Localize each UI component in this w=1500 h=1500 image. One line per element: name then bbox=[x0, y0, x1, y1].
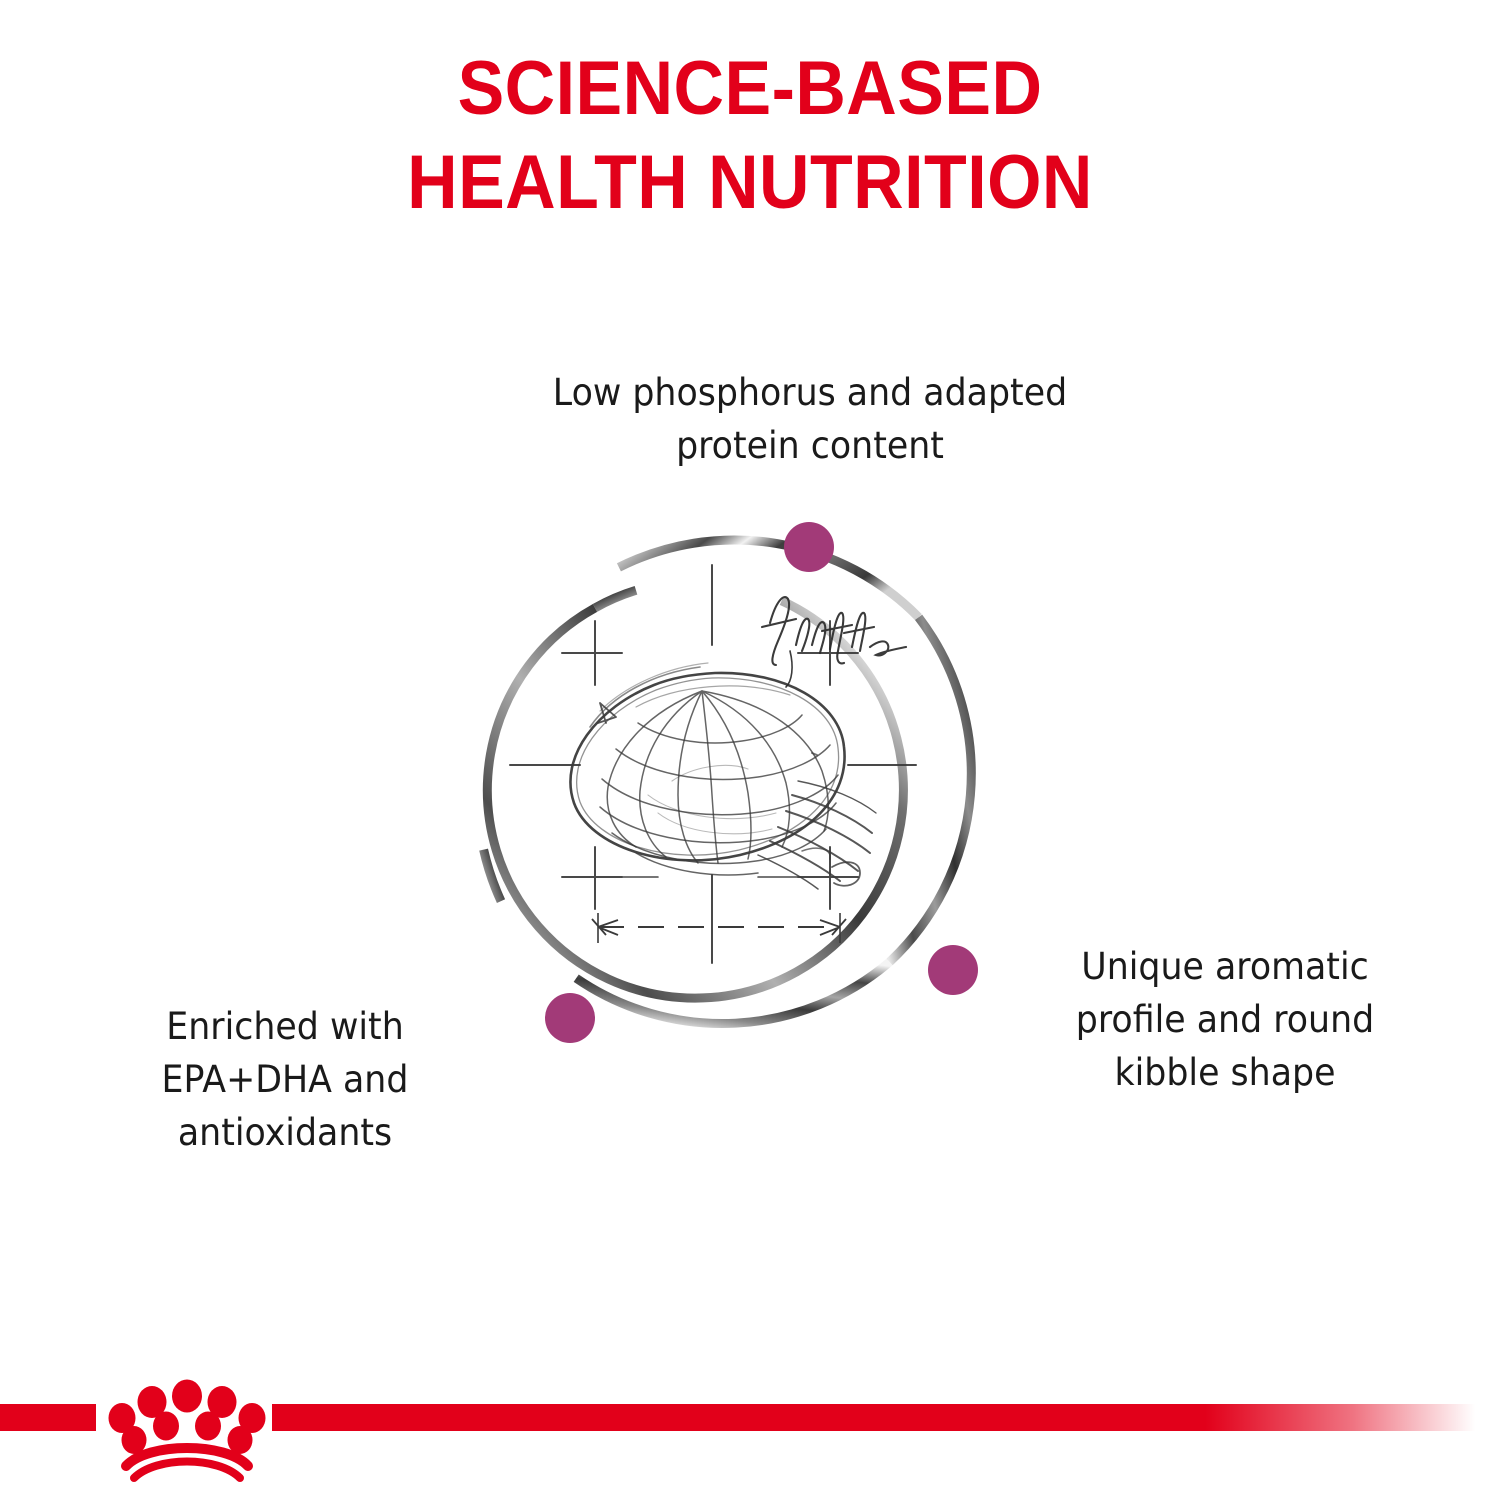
royal-canin-crown-logo bbox=[104, 1374, 270, 1486]
callout-low-phosphorus: Low phosphorus and adapted protein conte… bbox=[476, 366, 1143, 472]
callout-aromatic-profile-kibble-shape: Unique aromatic profile and round kibble… bbox=[1042, 940, 1409, 1099]
page-title-line-1: SCIENCE-BASED bbox=[60, 42, 1440, 136]
footer-bar-left-segment bbox=[0, 1404, 96, 1431]
crown-pearl-8 bbox=[195, 1412, 221, 1441]
footer-bar-right-segment bbox=[272, 1404, 1500, 1431]
kibble-shading bbox=[758, 781, 876, 889]
inner-ring-arc-top-gap bbox=[595, 590, 636, 608]
dimension-line bbox=[592, 913, 846, 943]
callout-left-line-3: antioxidants bbox=[92, 1106, 477, 1159]
callout-epa-dha-antioxidants: Enriched with EPA+DHA and antioxidants bbox=[92, 1000, 477, 1159]
inner-ring bbox=[487, 590, 903, 998]
callout-top-line-2: protein content bbox=[476, 419, 1143, 472]
crown-pearl-6 bbox=[122, 1426, 147, 1454]
footer bbox=[0, 1380, 1500, 1500]
callout-right-line-2: profile and round bbox=[1042, 993, 1409, 1046]
accent-dot-right bbox=[928, 945, 978, 995]
callout-right-line-3: kibble shape bbox=[1042, 1046, 1409, 1099]
inner-ring-arc-main bbox=[487, 601, 903, 998]
kibble-sketch bbox=[570, 663, 876, 889]
callout-left-line-2: EPA+DHA and bbox=[92, 1053, 477, 1106]
outer-ring-arc-top bbox=[619, 540, 919, 617]
accent-dot-top-right bbox=[784, 522, 834, 572]
accent-dot-bottom-left bbox=[545, 993, 595, 1043]
kibble-design-diagram bbox=[440, 495, 1040, 1095]
callout-right-line-1: Unique aromatic bbox=[1042, 940, 1409, 993]
page-title-line-2: HEALTH NUTRITION bbox=[60, 136, 1440, 230]
crown-pearl-9 bbox=[228, 1426, 253, 1454]
page-title: SCIENCE-BASED HEALTH NUTRITION bbox=[60, 42, 1440, 230]
callout-top-line-1: Low phosphorus and adapted bbox=[476, 366, 1143, 419]
callout-left-line-1: Enriched with bbox=[92, 1000, 477, 1053]
crown-pearl-3 bbox=[172, 1380, 202, 1413]
crown-arc-inner bbox=[134, 1462, 240, 1479]
handwritten-signature bbox=[762, 597, 906, 687]
crown-pearl-7 bbox=[153, 1412, 179, 1441]
kibble-meridians bbox=[607, 691, 828, 863]
